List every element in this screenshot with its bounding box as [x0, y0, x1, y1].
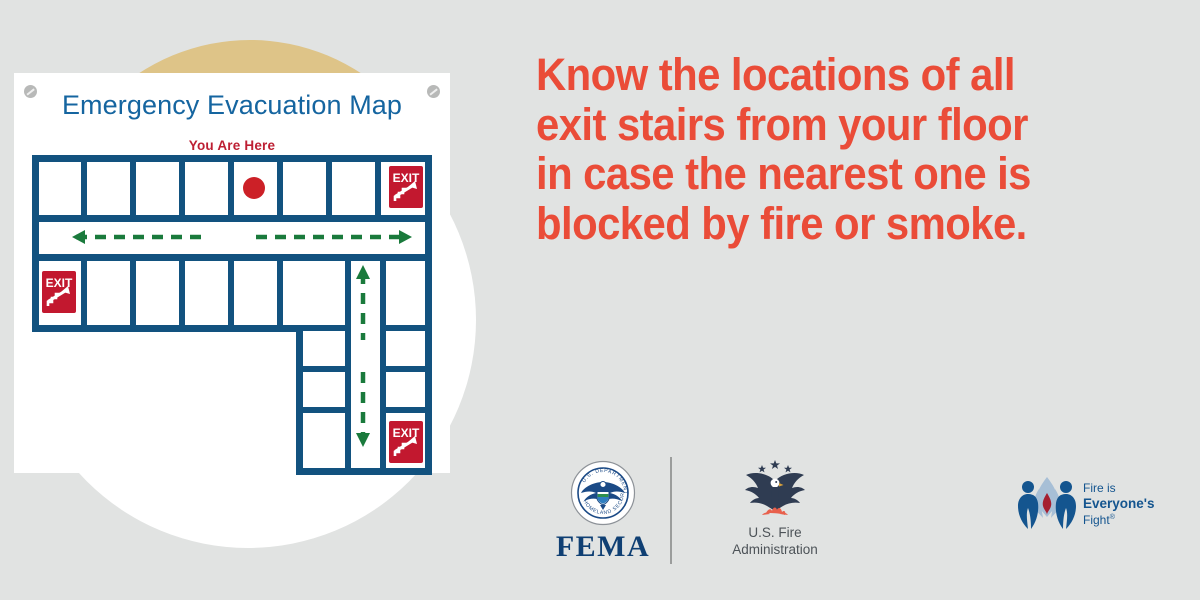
feif-line-1: Fire is	[1083, 481, 1116, 495]
floor-plan: EXIT	[28, 155, 438, 475]
dhs-seal-icon: U.S. DEPARTMENT OF HOMELAND SECURITY	[570, 460, 636, 526]
feif-trademark: ®	[1110, 514, 1115, 521]
usfa-logo: U.S. Fire Administration	[705, 459, 845, 571]
feif-line-2: Everyone's	[1083, 496, 1155, 513]
headline-line-2: exit stairs from your floor	[536, 100, 1122, 150]
headline-line-3: in case the nearest one is	[536, 149, 1122, 199]
eagle-flame-icon	[736, 459, 814, 523]
people-flame-icon	[1015, 473, 1079, 531]
usfa-line-2: Administration	[732, 542, 818, 557]
logo-divider	[670, 457, 672, 564]
arrow-left-icon	[72, 230, 208, 244]
feif-line-3: Fight	[1083, 513, 1110, 527]
headline-line-1: Know the locations of all	[536, 50, 1122, 100]
floor-plan-svg: EXIT	[28, 155, 438, 475]
fire-is-everyones-fight-logo: Fire is Everyone's Fight®	[1015, 473, 1175, 543]
you-are-here-label: You Are Here	[14, 138, 450, 153]
usfa-wordmark: U.S. Fire Administration	[732, 525, 818, 559]
fema-logo: U.S. DEPARTMENT OF HOMELAND SECURITY FEM…	[548, 460, 658, 572]
headline-line-4: blocked by fire or smoke.	[536, 199, 1122, 249]
usfa-line-1: U.S. Fire	[748, 525, 801, 540]
page-title: Emergency Evacuation Map	[14, 90, 450, 121]
fire-is-everyones-fight-wordmark: Fire is Everyone's Fight®	[1083, 481, 1155, 528]
arrow-right-icon	[256, 230, 412, 244]
headline: Know the locations of all exit stairs fr…	[536, 50, 1122, 248]
poster-canvas: Emergency Evacuation Map You Are Here EX…	[0, 0, 1200, 600]
logo-row: U.S. DEPARTMENT OF HOMELAND SECURITY FEM…	[530, 455, 1190, 575]
fema-wordmark: FEMA	[556, 530, 650, 564]
arrow-vertical-icon	[356, 265, 370, 447]
